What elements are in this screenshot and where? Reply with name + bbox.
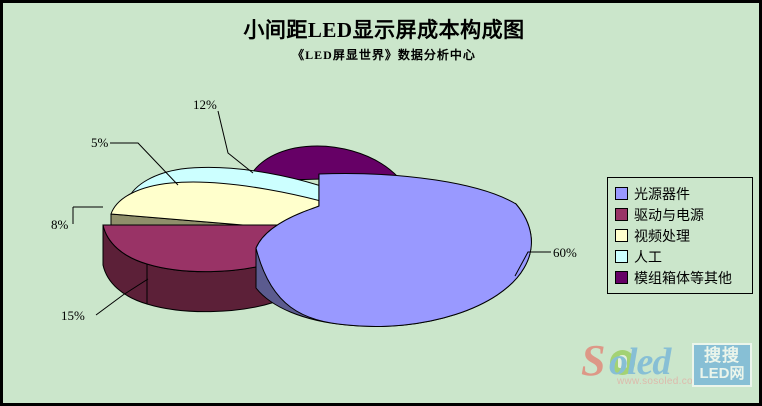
callout-8: 8% — [51, 207, 103, 232]
legend-item-2[interactable]: 视频处理 — [615, 225, 745, 246]
watermark-letter-s: S — [581, 339, 605, 383]
legend-label: 视频处理 — [634, 226, 690, 246]
legend-label: 驱动与电源 — [634, 205, 704, 225]
watermark-url: www.sosoled.com — [617, 376, 702, 387]
legend-swatch-icon — [615, 208, 628, 221]
legend: 光源器件 驱动与电源 视频处理 人工 模组箱体等其他 — [607, 177, 753, 294]
chart-frame: 小间距LED显示屏成本构成图 《LED屏显世界》数据分析中心 — [0, 0, 762, 406]
legend-item-0[interactable]: 光源器件 — [615, 183, 745, 204]
watermark-soled-wordmark: S oled www.sosoled.com — [579, 341, 699, 385]
pct-label-60: 60% — [553, 245, 577, 260]
watermark-cn-top: 搜搜 — [694, 346, 750, 365]
pct-label-15: 15% — [61, 308, 85, 323]
legend-item-3[interactable]: 人工 — [615, 246, 745, 267]
watermark-cn-bottom: LED网 — [694, 365, 750, 382]
legend-item-1[interactable]: 驱动与电源 — [615, 204, 745, 225]
pct-label-8: 8% — [51, 217, 69, 232]
legend-item-4[interactable]: 模组箱体等其他 — [615, 267, 745, 288]
pct-label-5: 5% — [91, 135, 109, 150]
leader-line-12 — [218, 111, 253, 173]
watermark-cn-badge: 搜搜 LED网 — [692, 343, 752, 387]
watermark-logo: S oled www.sosoled.com 搜搜 LED网 — [579, 341, 757, 393]
legend-swatch-icon — [615, 271, 628, 284]
legend-swatch-icon — [615, 187, 628, 200]
legend-swatch-icon — [615, 229, 628, 242]
legend-label: 模组箱体等其他 — [634, 268, 732, 288]
callout-12: 12% — [193, 97, 253, 173]
legend-label: 光源器件 — [634, 184, 690, 204]
pct-label-12: 12% — [193, 97, 217, 112]
legend-swatch-icon — [615, 250, 628, 263]
legend-label: 人工 — [634, 247, 662, 267]
